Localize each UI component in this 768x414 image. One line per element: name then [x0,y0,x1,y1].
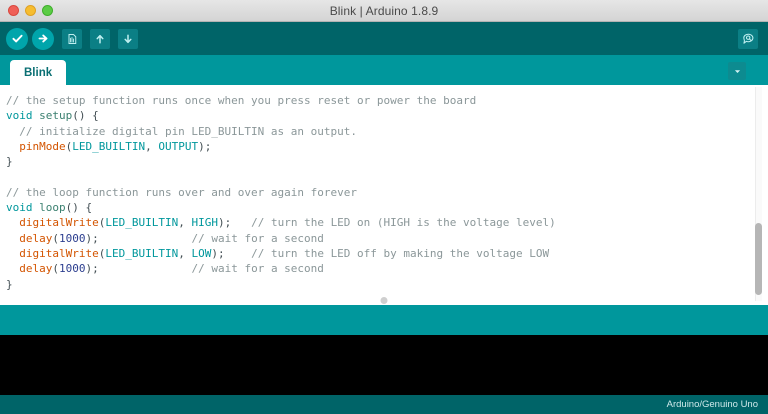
code-token: // wait for a second [191,232,323,245]
status-bar [0,305,768,335]
code-line: } [6,277,768,292]
tab-menu-button[interactable] [728,62,746,80]
code-token: void [6,109,39,122]
code-line: pinMode(LED_BUILTIN, OUTPUT); [6,139,768,154]
code-token: 1000 [59,232,86,245]
code-token: 1000 [59,262,86,275]
code-token [6,232,19,245]
code-line: void loop() { [6,200,768,215]
code-token: ); [218,216,251,229]
source-code[interactable]: // the setup function runs once when you… [6,93,768,292]
maximize-button[interactable] [42,5,53,16]
code-token: delay [19,232,52,245]
code-line [6,169,768,184]
code-token: , [178,247,191,260]
code-token: } [6,155,13,168]
code-line: } [6,154,768,169]
code-line: digitalWrite(LED_BUILTIN, LOW); // turn … [6,246,768,261]
chevron-down-icon [733,67,742,76]
code-token: pinMode [19,140,65,153]
code-token: digitalWrite [19,247,98,260]
code-token [6,140,19,153]
code-line: // the setup function runs once when you… [6,93,768,108]
window-controls [0,5,53,16]
arrow-up-icon [94,33,106,45]
code-token: loop [39,201,66,214]
save-button[interactable] [118,29,138,49]
window-title: Blink | Arduino 1.8.9 [0,4,768,18]
code-token: ( [52,262,59,275]
editor-scrollbar-thumb[interactable] [755,223,762,295]
code-token [6,262,19,275]
code-token: setup [39,109,72,122]
check-icon [11,32,24,45]
arduino-ide-window: Blink | Arduino 1.8.9 [0,0,768,414]
code-token: } [6,278,13,291]
code-token: delay [19,262,52,275]
code-editor[interactable]: // the setup function runs once when you… [0,85,768,305]
code-token: ); [198,140,211,153]
code-token [6,247,19,260]
code-token: // initialize digital pin LED_BUILTIN as… [6,125,357,138]
arrow-right-icon [37,32,50,45]
tab-label: Blink [24,67,52,79]
code-token: LED_BUILTIN [105,216,178,229]
code-token: ( [52,232,59,245]
toolbar [0,22,768,55]
code-token [6,216,19,229]
board-label: Arduino/Genuino Uno [667,399,758,410]
tab-bar: Blink [0,55,768,85]
new-button[interactable] [62,29,82,49]
close-button[interactable] [8,5,19,16]
code-line: digitalWrite(LED_BUILTIN, HIGH); // turn… [6,215,768,230]
code-token: void [6,201,39,214]
open-button[interactable] [90,29,110,49]
toolbar-button-group [6,28,138,50]
code-token: ); [86,232,192,245]
code-line: // initialize digital pin LED_BUILTIN as… [6,124,768,139]
console-panel[interactable] [0,335,768,395]
code-token: LOW [191,247,211,260]
code-token: // turn the LED off by making the voltag… [251,247,549,260]
new-file-icon [66,33,78,45]
title-bar: Blink | Arduino 1.8.9 [0,0,768,22]
code-line: // the loop function runs over and over … [6,185,768,200]
arrow-down-icon [122,33,134,45]
code-token: () { [72,109,99,122]
code-line: void setup() { [6,108,768,123]
code-line: delay(1000); // wait for a second [6,231,768,246]
code-token: OUTPUT [158,140,198,153]
code-token: // wait for a second [191,262,323,275]
upload-button[interactable] [32,28,54,50]
tab-blink[interactable]: Blink [10,60,66,85]
serial-monitor-button[interactable] [738,29,758,49]
editor-scrollbar[interactable] [755,87,762,301]
code-token: // turn the LED on (HIGH is the voltage … [251,216,556,229]
code-token: digitalWrite [19,216,98,229]
minimize-button[interactable] [25,5,36,16]
panel-resize-handle[interactable] [381,297,388,304]
code-token: ); [86,262,192,275]
code-token: LED_BUILTIN [72,140,145,153]
magnifier-bubble-icon [742,32,755,45]
code-token: , [178,216,191,229]
verify-button[interactable] [6,28,28,50]
code-token: ); [211,247,251,260]
footer-bar: Arduino/Genuino Uno [0,395,768,414]
code-token: LED_BUILTIN [105,247,178,260]
code-token: , [145,140,158,153]
code-token: () { [66,201,93,214]
code-token: HIGH [191,216,218,229]
code-token: // the loop function runs over and over … [6,186,357,199]
code-line: delay(1000); // wait for a second [6,261,768,276]
code-token: // the setup function runs once when you… [6,94,476,107]
